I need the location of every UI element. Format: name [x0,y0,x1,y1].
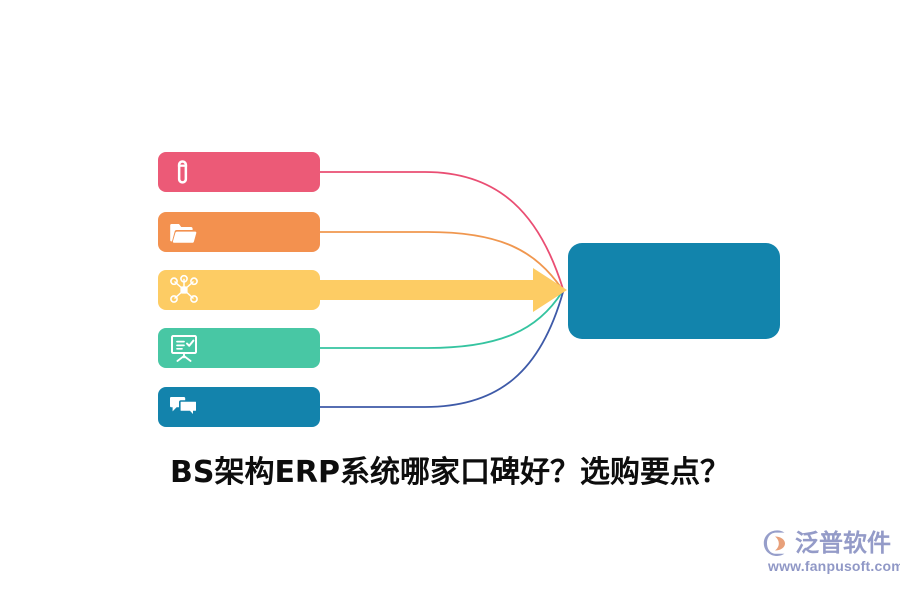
source-bar-4[interactable] [158,328,320,368]
watermark-brand: 泛普软件 [795,528,891,558]
watermark-logo: 泛普软件 www.fanpusoft.com [762,528,894,586]
connector-line-4 [320,292,562,348]
flow-diagram [0,0,900,600]
brand-mark-icon [762,528,792,558]
page-title: BS架构ERP系统哪家口碑好？选购要点？ [0,451,900,495]
target-box[interactable] [568,243,780,339]
connector-line-5 [320,292,563,407]
source-bar-1[interactable] [158,152,320,192]
watermark-url: www.fanpusoft.com [768,558,900,574]
diagram-canvas: BS架构ERP系统哪家口碑好？选购要点？ 泛普软件 www.fanpusoft.… [0,0,900,600]
emphasis-arrow [318,268,567,312]
connector-line-1 [320,172,563,289]
